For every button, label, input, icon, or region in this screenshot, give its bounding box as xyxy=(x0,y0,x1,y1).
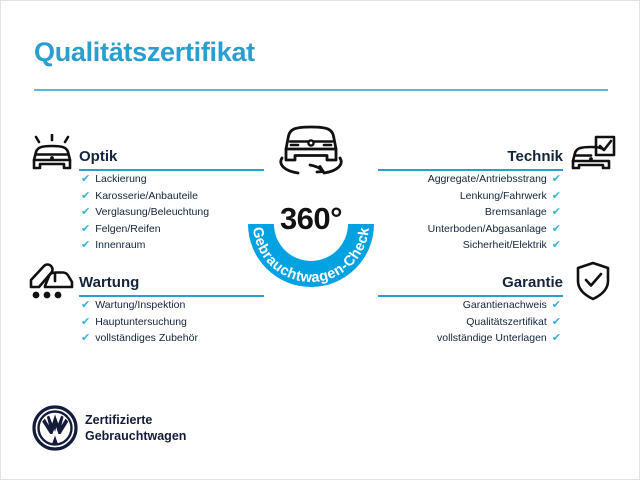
list-item: Bremsanlage✔ xyxy=(428,204,561,221)
section-header: Garantie xyxy=(378,267,563,297)
list-item-label: Felgen/Reifen xyxy=(95,221,160,238)
list-item: Lenkung/Fahrwerk✔ xyxy=(428,188,561,205)
check-icon: ✔ xyxy=(552,330,561,347)
list-item-label: Aggregate/Antriebsstrang xyxy=(428,171,547,188)
check-icon: ✔ xyxy=(552,237,561,254)
list-item: ✔Lackierung xyxy=(81,171,209,188)
footer-line-2: Gebrauchtwagen xyxy=(85,428,186,444)
list-item-label: Verglasung/Beleuchtung xyxy=(95,204,209,221)
list-item: Aggregate/Antriebsstrang✔ xyxy=(428,171,561,188)
checklist: Aggregate/Antriebsstrang✔ Lenkung/Fahrwe… xyxy=(428,171,561,254)
check-icon: ✔ xyxy=(81,314,90,331)
list-item-label: vollständige Unterlagen xyxy=(437,330,547,347)
shield-check-icon xyxy=(573,260,613,307)
footer-brand-text: Zertifizierte Gebrauchtwagen xyxy=(85,412,186,444)
car-shine-icon xyxy=(27,134,77,181)
check-icon: ✔ xyxy=(81,221,90,238)
section-title: Garantie xyxy=(502,274,563,291)
checklist: ✔Wartung/Inspektion ✔Hauptuntersuchung ✔… xyxy=(81,297,198,347)
badge-value: 360° xyxy=(236,201,386,237)
section-garantie: Garantie Garantienachweis✔ Qualitätszert… xyxy=(378,267,563,297)
car-rotate-icon xyxy=(270,116,352,178)
footer-line-1: Zertifizierte xyxy=(85,412,186,428)
list-item-label: vollständiges Zubehör xyxy=(95,330,198,347)
list-item: ✔Felgen/Reifen xyxy=(81,221,209,238)
checklist: ✔Lackierung ✔Karosserie/Anbauteile ✔Verg… xyxy=(81,171,209,254)
title-divider xyxy=(34,89,608,91)
list-item: ✔Innenraum xyxy=(81,237,209,254)
check-icon: ✔ xyxy=(552,204,561,221)
wrench-car-icon xyxy=(27,260,77,307)
check-icon: ✔ xyxy=(81,188,90,205)
list-item-label: Lenkung/Fahrwerk xyxy=(460,188,547,205)
list-item-label: Hauptuntersuchung xyxy=(95,314,187,331)
list-item-label: Sicherheit/Elektrik xyxy=(463,237,547,254)
check-icon: ✔ xyxy=(81,171,90,188)
list-item-label: Karosserie/Anbauteile xyxy=(95,188,198,205)
list-item-label: Unterboden/Abgasanlage xyxy=(428,221,547,238)
check-icon: ✔ xyxy=(81,237,90,254)
list-item-label: Wartung/Inspektion xyxy=(95,297,185,314)
check-icon: ✔ xyxy=(552,221,561,238)
list-item: Sicherheit/Elektrik✔ xyxy=(428,237,561,254)
list-item-label: Garantienachweis xyxy=(463,297,547,314)
list-item-label: Qualitätszertifikat xyxy=(466,314,547,331)
section-title: Optik xyxy=(79,148,117,165)
list-item-label: Bremsanlage xyxy=(485,204,547,221)
certificate-page: Qualitätszertifikat xyxy=(0,0,640,480)
list-item: ✔vollständiges Zubehör xyxy=(81,330,198,347)
section-title: Wartung xyxy=(79,274,139,291)
list-item: ✔Verglasung/Beleuchtung xyxy=(81,204,209,221)
car-checkbox-icon xyxy=(569,134,617,181)
section-header: Technik xyxy=(378,141,563,171)
checklist: Garantienachweis✔ Qualitätszertifikat✔ v… xyxy=(437,297,561,347)
check-icon: ✔ xyxy=(81,204,90,221)
list-item-label: Lackierung xyxy=(95,171,146,188)
list-item: Qualitätszertifikat✔ xyxy=(437,314,561,331)
list-item: ✔Hauptuntersuchung xyxy=(81,314,198,331)
check-icon: ✔ xyxy=(552,297,561,314)
list-item: vollständige Unterlagen✔ xyxy=(437,330,561,347)
list-item-label: Innenraum xyxy=(95,237,145,254)
list-item: Garantienachweis✔ xyxy=(437,297,561,314)
check-icon: ✔ xyxy=(552,171,561,188)
check-icon: ✔ xyxy=(81,330,90,347)
page-title: Qualitätszertifikat xyxy=(34,37,255,68)
check-icon: ✔ xyxy=(552,188,561,205)
section-title: Technik xyxy=(507,148,563,165)
list-item: ✔Karosserie/Anbauteile xyxy=(81,188,209,205)
list-item: ✔Wartung/Inspektion xyxy=(81,297,198,314)
check-icon: ✔ xyxy=(552,314,561,331)
section-technik: Technik Aggregate/Antriebsstrang✔ Lenkun… xyxy=(378,141,563,171)
volkswagen-logo xyxy=(32,405,78,456)
list-item: Unterboden/Abgasanlage✔ xyxy=(428,221,561,238)
check-icon: ✔ xyxy=(81,297,90,314)
